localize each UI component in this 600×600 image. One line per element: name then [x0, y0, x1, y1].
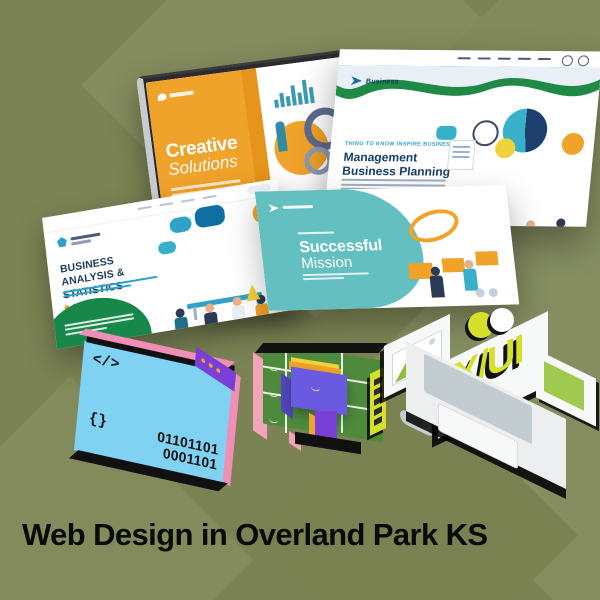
- ring-graphic: [404, 203, 464, 248]
- mission-title: Successful Mission: [299, 238, 385, 271]
- cabinet-top: [255, 343, 387, 353]
- successful-mission-card: Successful Mission: [255, 185, 519, 311]
- chat-bubble-icon: [158, 240, 177, 255]
- brand-mark-icon: [268, 202, 317, 213]
- orange-block: [475, 251, 499, 265]
- chat-bubble-icon: [436, 126, 457, 140]
- mission-title-line2: Mission: [300, 254, 384, 271]
- chat-bubble-icon: [194, 204, 226, 229]
- search-icon[interactable]: [561, 55, 573, 66]
- code-brace-icon: {}: [88, 410, 107, 431]
- poster-canvas: Creative Solutions: [0, 0, 600, 600]
- page-title: Web Design in Overland Park KS: [22, 519, 488, 550]
- gear-icon: [490, 308, 514, 332]
- mission-illustration: [394, 191, 519, 303]
- business-logo: Business: [350, 75, 409, 86]
- chat-bubble-icon: [169, 215, 192, 234]
- bar-chart-icon: [272, 77, 315, 108]
- brand-mark-icon: [56, 230, 103, 248]
- user-icon[interactable]: [577, 55, 589, 66]
- ux-ui-laptop-illustration: UX/UI: [392, 318, 582, 483]
- sun-icon: [429, 337, 435, 346]
- code-window-illustration: </> {} 01101101 0001101: [74, 341, 234, 484]
- business-logo-label: Business: [366, 78, 400, 85]
- orange-block: [442, 258, 466, 272]
- document-icon: [447, 140, 476, 170]
- lightbulb-icon: [494, 138, 516, 158]
- business-analysis-webpage: BUSINESS ANALYSIS & STATISTICS: [42, 179, 292, 350]
- coin-icon: [561, 133, 585, 155]
- pagination-dots[interactable]: [475, 288, 498, 298]
- management-title-line1: Management: [343, 150, 418, 165]
- mission-subtext: [302, 272, 369, 282]
- leaf-icon: [245, 283, 261, 301]
